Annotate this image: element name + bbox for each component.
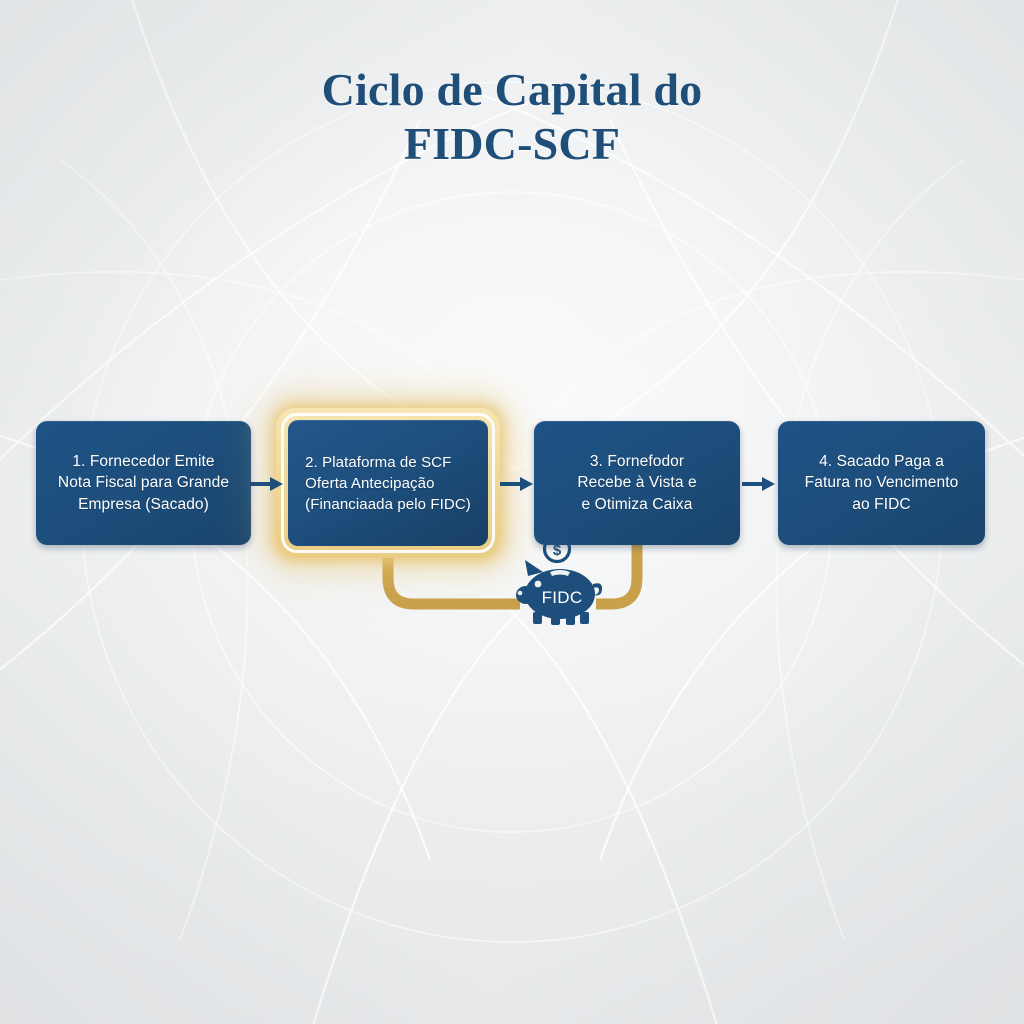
flow-step-2-label: 2. Plataforma de SCF Oferta Antecipação …	[299, 452, 477, 515]
arrow-step1-to-step2	[250, 475, 284, 493]
title-line-2: FIDC-SCF	[0, 117, 1024, 171]
flow-step-4-label: 4. Sacado Paga a Fatura no Vencimento ao…	[795, 451, 969, 516]
coin-symbol: $	[553, 542, 562, 559]
title-line-1: Ciclo de Capital do	[0, 63, 1024, 117]
piggy-bank-icon: $	[508, 536, 616, 632]
coin-icon: $	[545, 537, 570, 562]
fidc-piggy-bank: $ FIDC	[508, 536, 616, 632]
arrow-step3-to-step4	[742, 475, 776, 493]
flow-step-3-label: 3. Fornefodor Recebe à Vista e e Otimiza…	[567, 451, 706, 516]
page-title: Ciclo de Capital do FIDC-SCF	[0, 63, 1024, 171]
flow-step-2-highlight: 2. Plataforma de SCF Oferta Antecipação …	[276, 408, 500, 558]
flow-step-3[interactable]: 3. Fornefodor Recebe à Vista e e Otimiza…	[534, 421, 740, 545]
flow-step-1[interactable]: 1. Fornecedor Emite Nota Fiscal para Gra…	[36, 421, 251, 545]
infographic-canvas: Ciclo de Capital do FIDC-SCF $	[0, 0, 1024, 1024]
flow-step-1-label: 1. Fornecedor Emite Nota Fiscal para Gra…	[48, 451, 239, 516]
flow-step-4[interactable]: 4. Sacado Paga a Fatura no Vencimento ao…	[778, 421, 985, 545]
arrow-step2-to-step3	[500, 475, 534, 493]
flow-step-2[interactable]: 2. Plataforma de SCF Oferta Antecipação …	[288, 420, 488, 546]
